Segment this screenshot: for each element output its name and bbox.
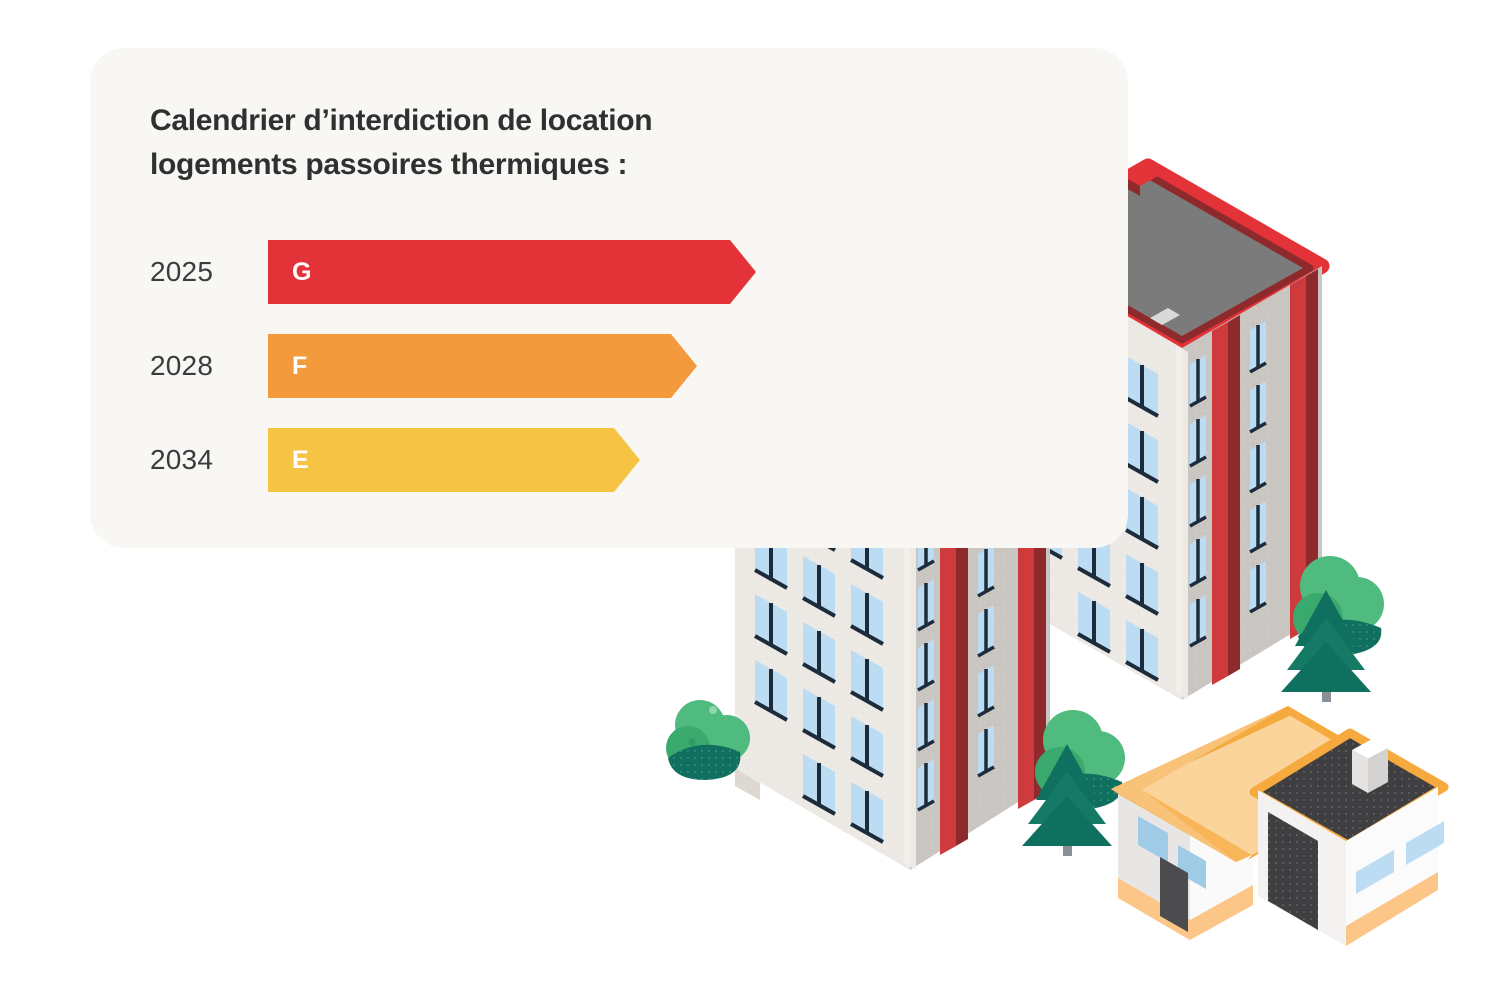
energy-bar-g[interactable]: G: [268, 240, 768, 304]
bar-shape-g: [268, 240, 756, 304]
energy-class-letter-e: E: [292, 428, 309, 492]
bar-year-label-2028: 2028: [150, 334, 250, 398]
energy-bar-e[interactable]: E: [268, 428, 653, 492]
energy-bar-f[interactable]: F: [268, 334, 708, 398]
bar-shape-e: [268, 428, 640, 492]
page-title: Calendrier d’interdiction de location lo…: [150, 99, 930, 186]
bar-year-label-2034: 2034: [150, 428, 250, 492]
bar-year-label-2025: 2025: [150, 240, 250, 304]
energy-class-letter-g: G: [292, 240, 312, 304]
bar-shape-f: [268, 334, 697, 398]
infographic-canvas: Calendrier d’interdiction de location lo…: [0, 0, 1500, 999]
energy-class-letter-f: F: [292, 334, 308, 398]
